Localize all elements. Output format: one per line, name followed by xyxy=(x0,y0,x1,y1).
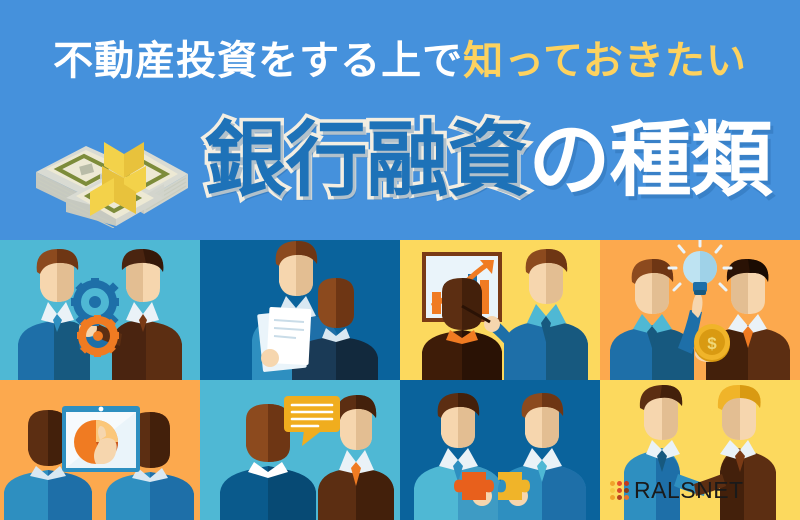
main-title-suffix: の種類 xyxy=(529,113,772,208)
banner-root: 不動産投資をする上で知っておきたい xyxy=(0,0,800,520)
main-title: 銀行融資の種類 xyxy=(204,120,771,202)
header-section: 不動産投資をする上で知っておきたい xyxy=(0,0,800,240)
headline-highlight-text: 知っておきたい xyxy=(463,38,747,84)
brand-logo: RALSNET xyxy=(610,477,744,504)
svg-text:$: $ xyxy=(707,334,717,353)
money-stack-icon xyxy=(28,116,194,228)
logo-text: RALSNET xyxy=(634,477,744,504)
logo-dot-matrix-icon xyxy=(610,481,629,500)
title-row: 銀行融資の種類 xyxy=(0,96,800,226)
tile-puzzle xyxy=(400,380,600,520)
headline: 不動産投資をする上で知っておきたい xyxy=(0,28,800,86)
tile-conversation xyxy=(200,380,400,520)
tile-idea-coin: $ xyxy=(600,240,800,380)
tile-handshake-gears xyxy=(0,240,200,380)
tile-presentation xyxy=(400,240,600,380)
tile-document-review xyxy=(200,240,400,380)
illustration-grid: $ xyxy=(0,240,800,520)
main-title-emphasis: 銀行融資 xyxy=(204,113,528,208)
headline-white-text: 不動産投資をする上で xyxy=(53,38,463,84)
tile-logo: RALSNET xyxy=(600,380,800,520)
tile-pie-monitor xyxy=(0,380,200,520)
